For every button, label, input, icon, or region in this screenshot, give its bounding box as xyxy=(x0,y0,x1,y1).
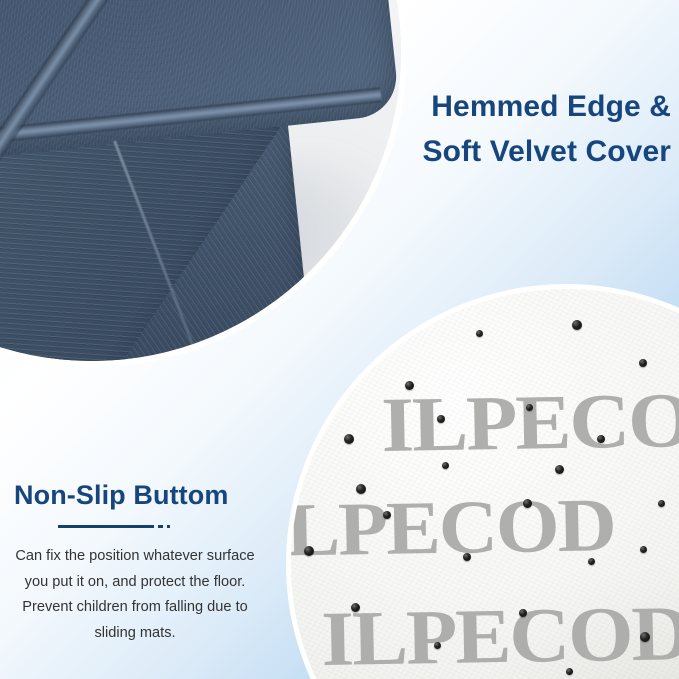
body-line-1: Can fix the position whatever surface xyxy=(12,544,258,570)
grip-dot xyxy=(304,546,314,556)
grip-dot xyxy=(523,499,532,508)
grip-dot xyxy=(463,553,471,561)
grip-dot xyxy=(344,434,354,444)
brand-watermark: ILPECOD xyxy=(381,374,679,470)
product-feature-poster: ILPECOD ILPECOD ILPECOD ILPECOD Hemmed E… xyxy=(0,0,679,679)
grip-dot xyxy=(356,484,366,494)
grip-dot xyxy=(597,435,605,443)
product-photo-non-slip-bottom: ILPECOD ILPECOD ILPECOD ILPECOD xyxy=(286,284,679,679)
grip-dot xyxy=(519,609,527,617)
grip-dot xyxy=(640,546,647,553)
grip-dot xyxy=(434,642,441,649)
grip-dot xyxy=(476,330,483,337)
body-line-4: sliding mats. xyxy=(12,621,258,647)
feature-heading-hemmed-edge: Hemmed Edge & Soft Velvet Cover xyxy=(251,84,671,174)
grip-dot xyxy=(588,558,595,565)
heading-line-2: Soft Velvet Cover xyxy=(251,129,671,174)
divider-line xyxy=(58,525,154,528)
heading-line-1: Hemmed Edge & xyxy=(251,84,671,129)
grip-dot xyxy=(405,381,414,390)
feature-block-non-slip: Non-Slip Buttom Can fix the position wha… xyxy=(0,478,270,646)
grip-dot xyxy=(658,500,665,507)
body-line-3: Prevent children from falling due to xyxy=(12,595,258,621)
grip-dot xyxy=(383,511,391,519)
grip-dot xyxy=(640,632,650,642)
divider-dash xyxy=(158,525,163,528)
title-divider xyxy=(0,525,270,528)
brand-watermark: ILPECOD xyxy=(321,588,679,679)
body-line-2: you put it on, and protect the floor. xyxy=(12,570,258,596)
grip-dot xyxy=(442,462,449,469)
brand-watermark: ILPECOD xyxy=(286,482,615,575)
grip-dot xyxy=(639,359,647,367)
grip-dot xyxy=(555,465,564,474)
divider-dot xyxy=(167,525,170,528)
grip-dot xyxy=(351,603,360,612)
feature-body-non-slip: Can fix the position whatever surface yo… xyxy=(0,544,270,646)
grip-dot xyxy=(572,320,582,330)
grip-dot xyxy=(566,668,573,675)
feature-title-non-slip: Non-Slip Buttom xyxy=(0,478,270,512)
grip-dot xyxy=(437,415,445,423)
grip-dot xyxy=(526,404,533,411)
